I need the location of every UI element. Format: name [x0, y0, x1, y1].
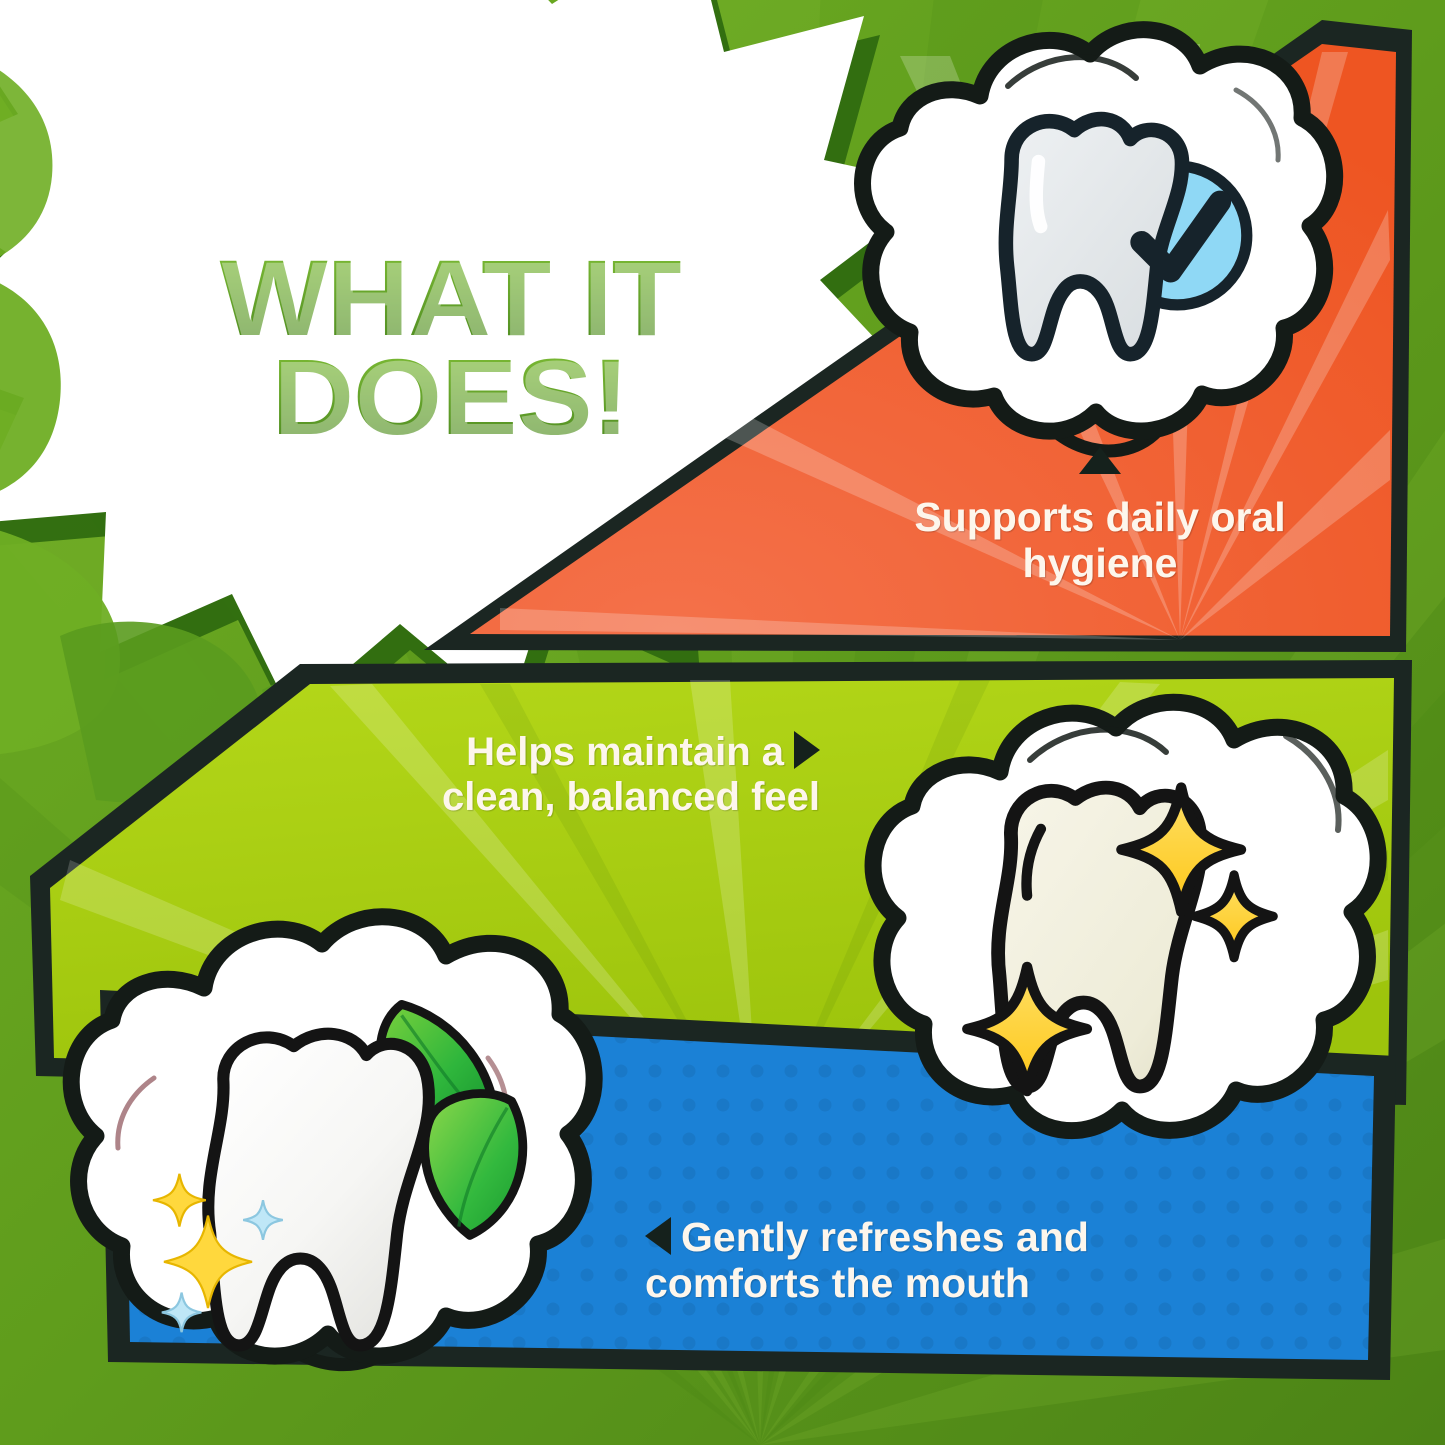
thought-bubble-sparkle-tooth — [838, 680, 1398, 1160]
caption-blue: Gently refreshes and comforts the mouth — [645, 1215, 1215, 1307]
page-title: WHAT IT DOES! — [132, 248, 768, 447]
caption-blue-line-2: comforts the mouth — [645, 1260, 1030, 1306]
caption-lime-line-2: clean, balanced feel — [442, 775, 820, 819]
thought-bubble-tooth-check — [828, 10, 1348, 480]
triangle-up-icon — [1079, 447, 1121, 474]
title-line-1: WHAT IT — [132, 248, 768, 347]
caption-lime: Helps maintain a clean, balanced feel — [300, 730, 820, 820]
caption-orange: Supports daily oral hygiene — [840, 495, 1360, 587]
infographic-poster: WHAT IT DOES! — [0, 0, 1445, 1445]
caption-orange-line-1: Supports daily oral — [914, 494, 1285, 540]
title-line-2: DOES! — [132, 347, 768, 446]
caption-orange-line-2: hygiene — [1023, 540, 1178, 586]
triangle-left-icon — [645, 1217, 671, 1255]
caption-lime-line-1: Helps maintain a — [466, 730, 784, 774]
tooth-shine — [1036, 162, 1040, 227]
caption-blue-line-1: Gently refreshes and — [681, 1214, 1089, 1260]
thought-bubble-mint-tooth — [36, 890, 616, 1390]
triangle-right-icon — [794, 731, 820, 769]
